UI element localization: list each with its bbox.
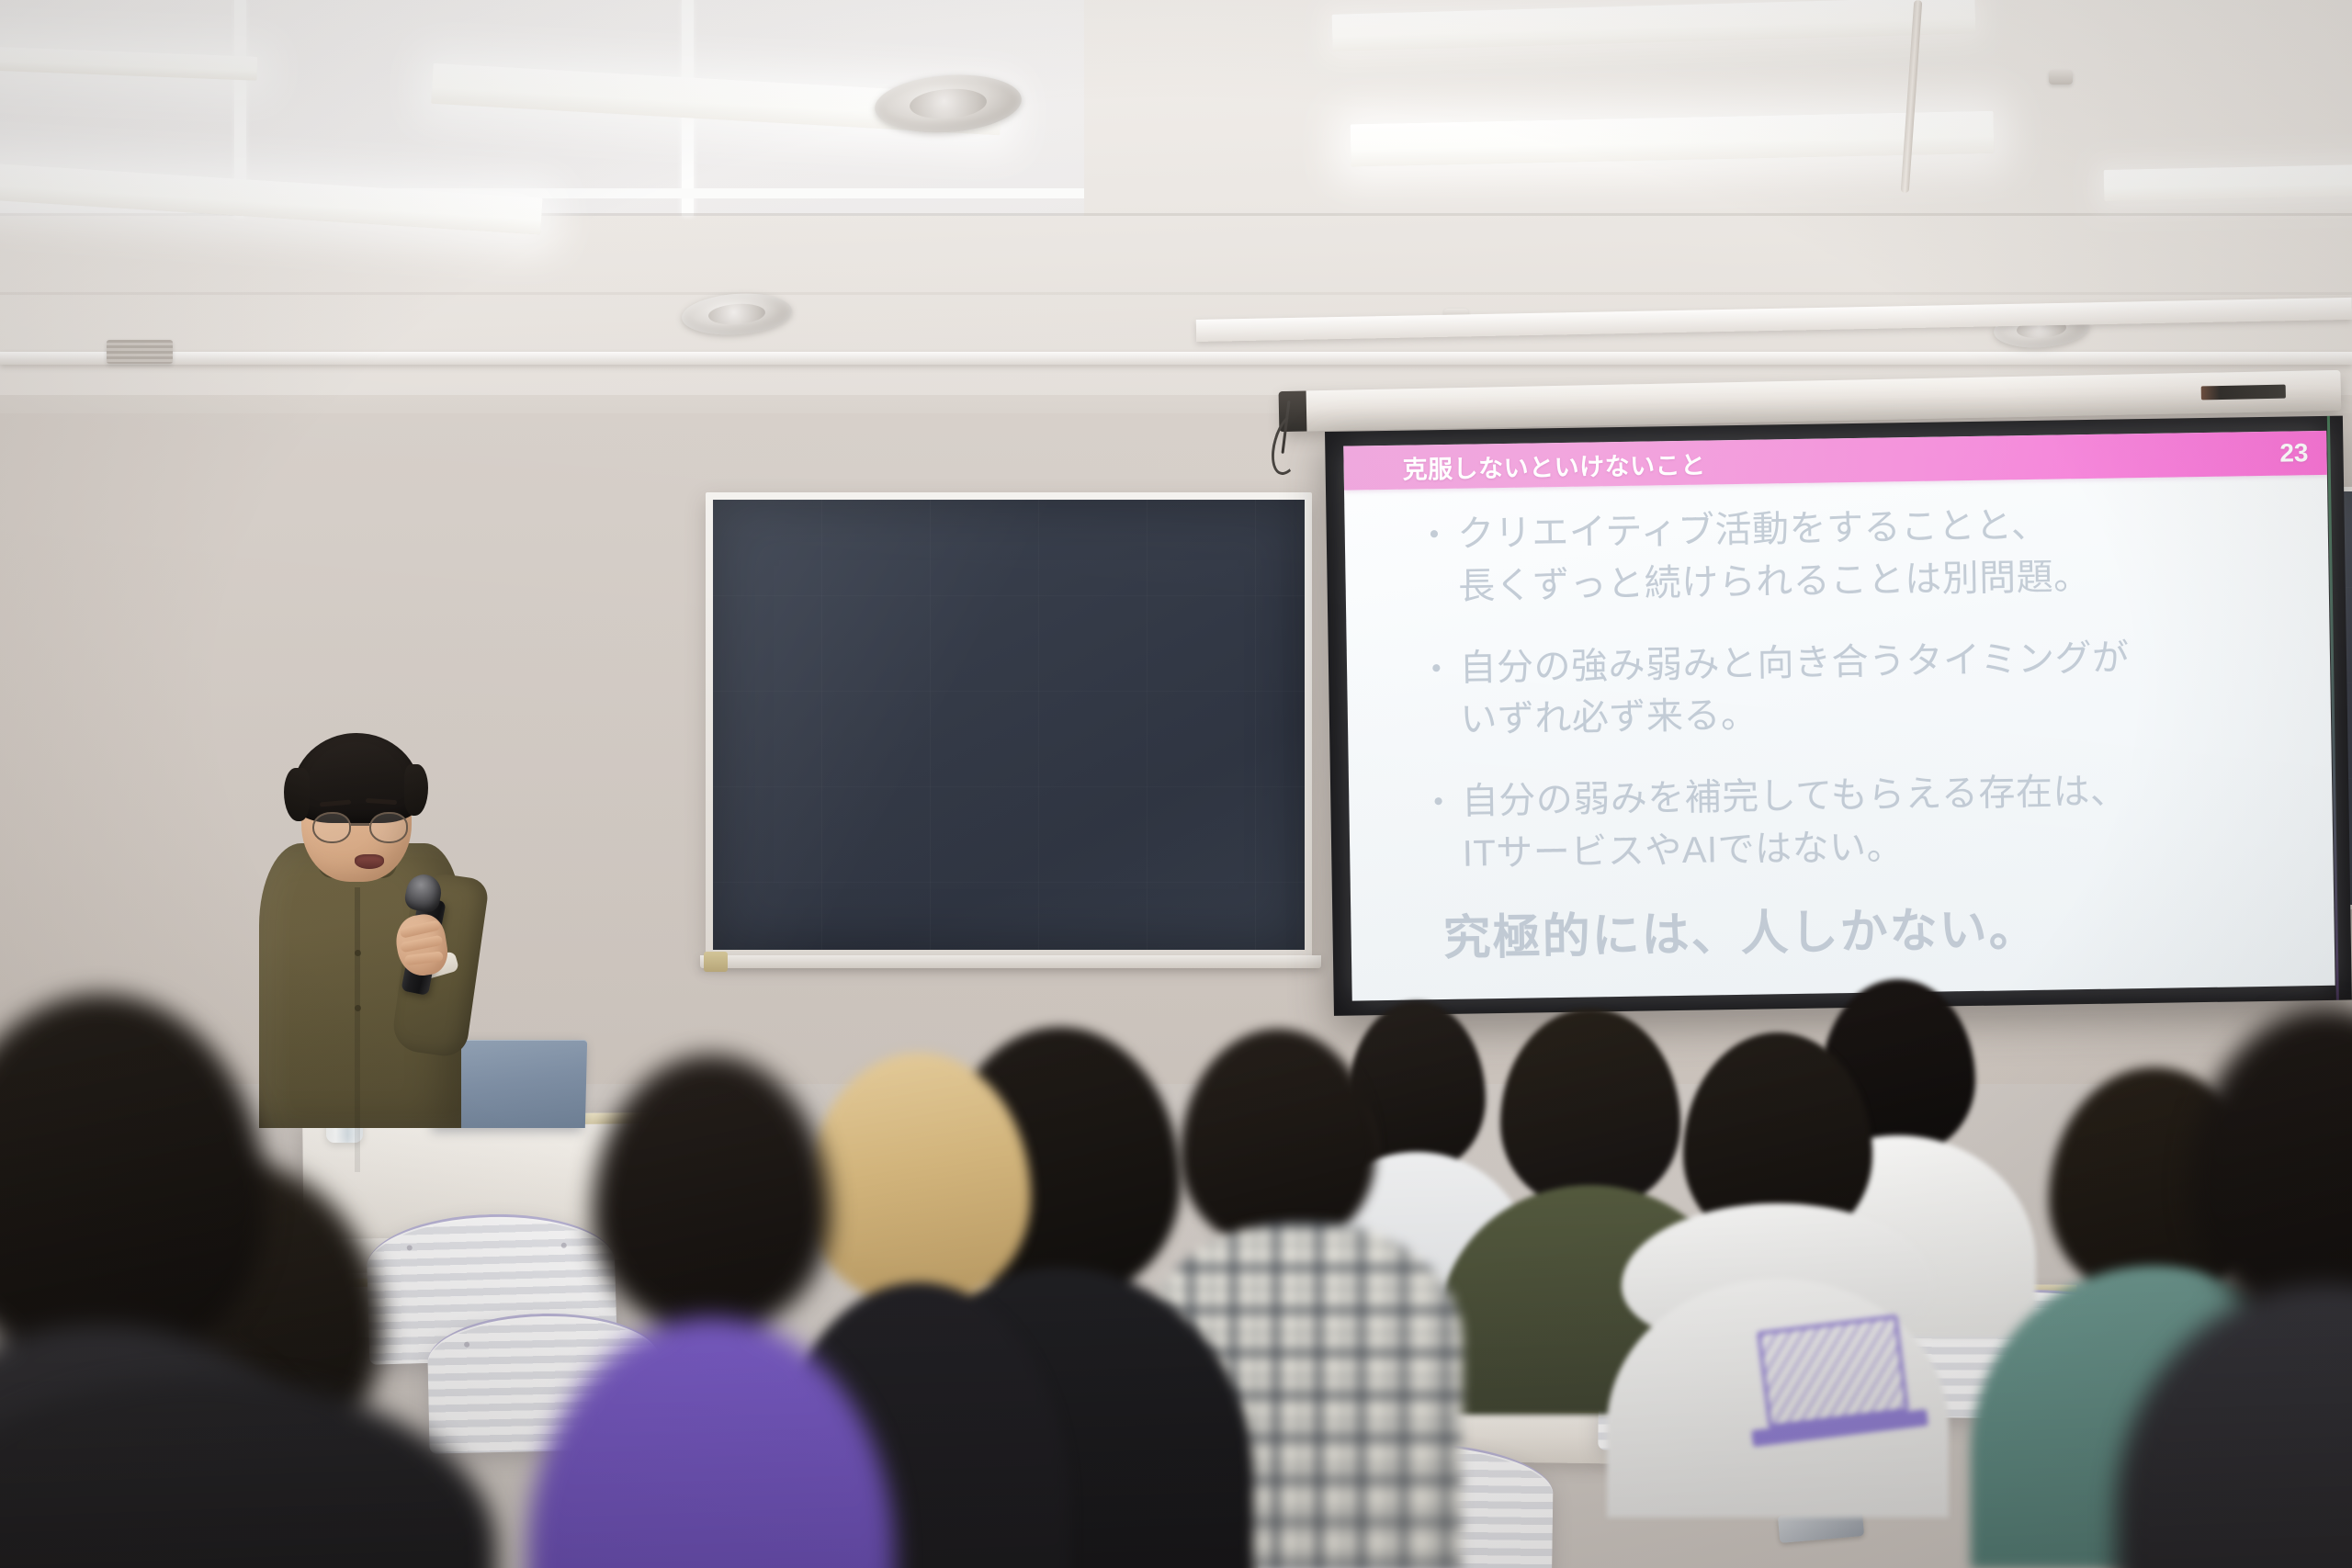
lecture-hall-scene: 克服しないといけないこと 23 • クリエイティブ活動をすることと、 長くずっと…: [0, 0, 2352, 1568]
slide-bullet: • 自分の強み弱みと向き合うタイミングが いずれ必ず来る。: [1431, 629, 2290, 747]
sprinkler-head: [2049, 70, 2073, 85]
presenter-eyeglasses: [312, 812, 408, 843]
wall-vent: [107, 340, 173, 364]
audience-member: [573, 1055, 849, 1568]
main-blackboard: [706, 492, 1312, 957]
bullet-dot-icon: •: [1430, 521, 1440, 548]
presenter-mouth: [355, 854, 384, 869]
chalk-tray: [700, 955, 1321, 968]
hoodie-laptop-graphic: [1757, 1314, 1909, 1428]
bullet-line: 長くずっと続けられることは別問題。: [1458, 551, 2091, 614]
projection-screen: 克服しないといけないこと 23 • クリエイティブ活動をすることと、 長くずっと…: [1325, 416, 2352, 1016]
slide-title-bar: 克服しないといけないこと 23: [1343, 431, 2327, 491]
slide-title: 克服しないといけないこと: [1402, 445, 1706, 485]
screen-control-sensor: [2201, 385, 2286, 400]
slide-punchline: 究極的には、人しかない。: [1442, 886, 2292, 968]
linear-fluorescent-light: [2104, 164, 2352, 201]
audience-member: [2176, 1009, 2352, 1568]
slide-bullet: • クリエイティブ活動をすることと、 長くずっと続けられることは別問題。: [1429, 496, 2287, 614]
slide-bullet: • 自分の弱みを補完してもらえる存在は、 ITサービスやAIではない。: [1433, 763, 2291, 881]
bullet-line: 自分の強み弱みと向き合うタイミングが: [1459, 632, 2130, 694]
bullet-line: 自分の弱みを補完してもらえる存在は、: [1461, 766, 2127, 829]
slide-page-number: 23: [2279, 438, 2309, 468]
audience-member: [0, 1378, 441, 1568]
slide-body: • クリエイティブ活動をすることと、 長くずっと続けられることは別問題。 • 自…: [1344, 495, 2335, 970]
bullet-dot-icon: •: [1431, 655, 1442, 682]
ceiling-soffit: [0, 352, 2352, 365]
bullet-line: いずれ必ず来る。: [1460, 684, 2131, 747]
bullet-dot-icon: •: [1433, 788, 1443, 816]
bullet-line: クリエイティブ活動をすることと、: [1457, 499, 2090, 561]
bullet-line: ITサービスやAIではない。: [1462, 818, 2128, 880]
presentation-slide: 克服しないといけないこと 23 • クリエイティブ活動をすることと、 長くずっと…: [1343, 431, 2335, 1001]
